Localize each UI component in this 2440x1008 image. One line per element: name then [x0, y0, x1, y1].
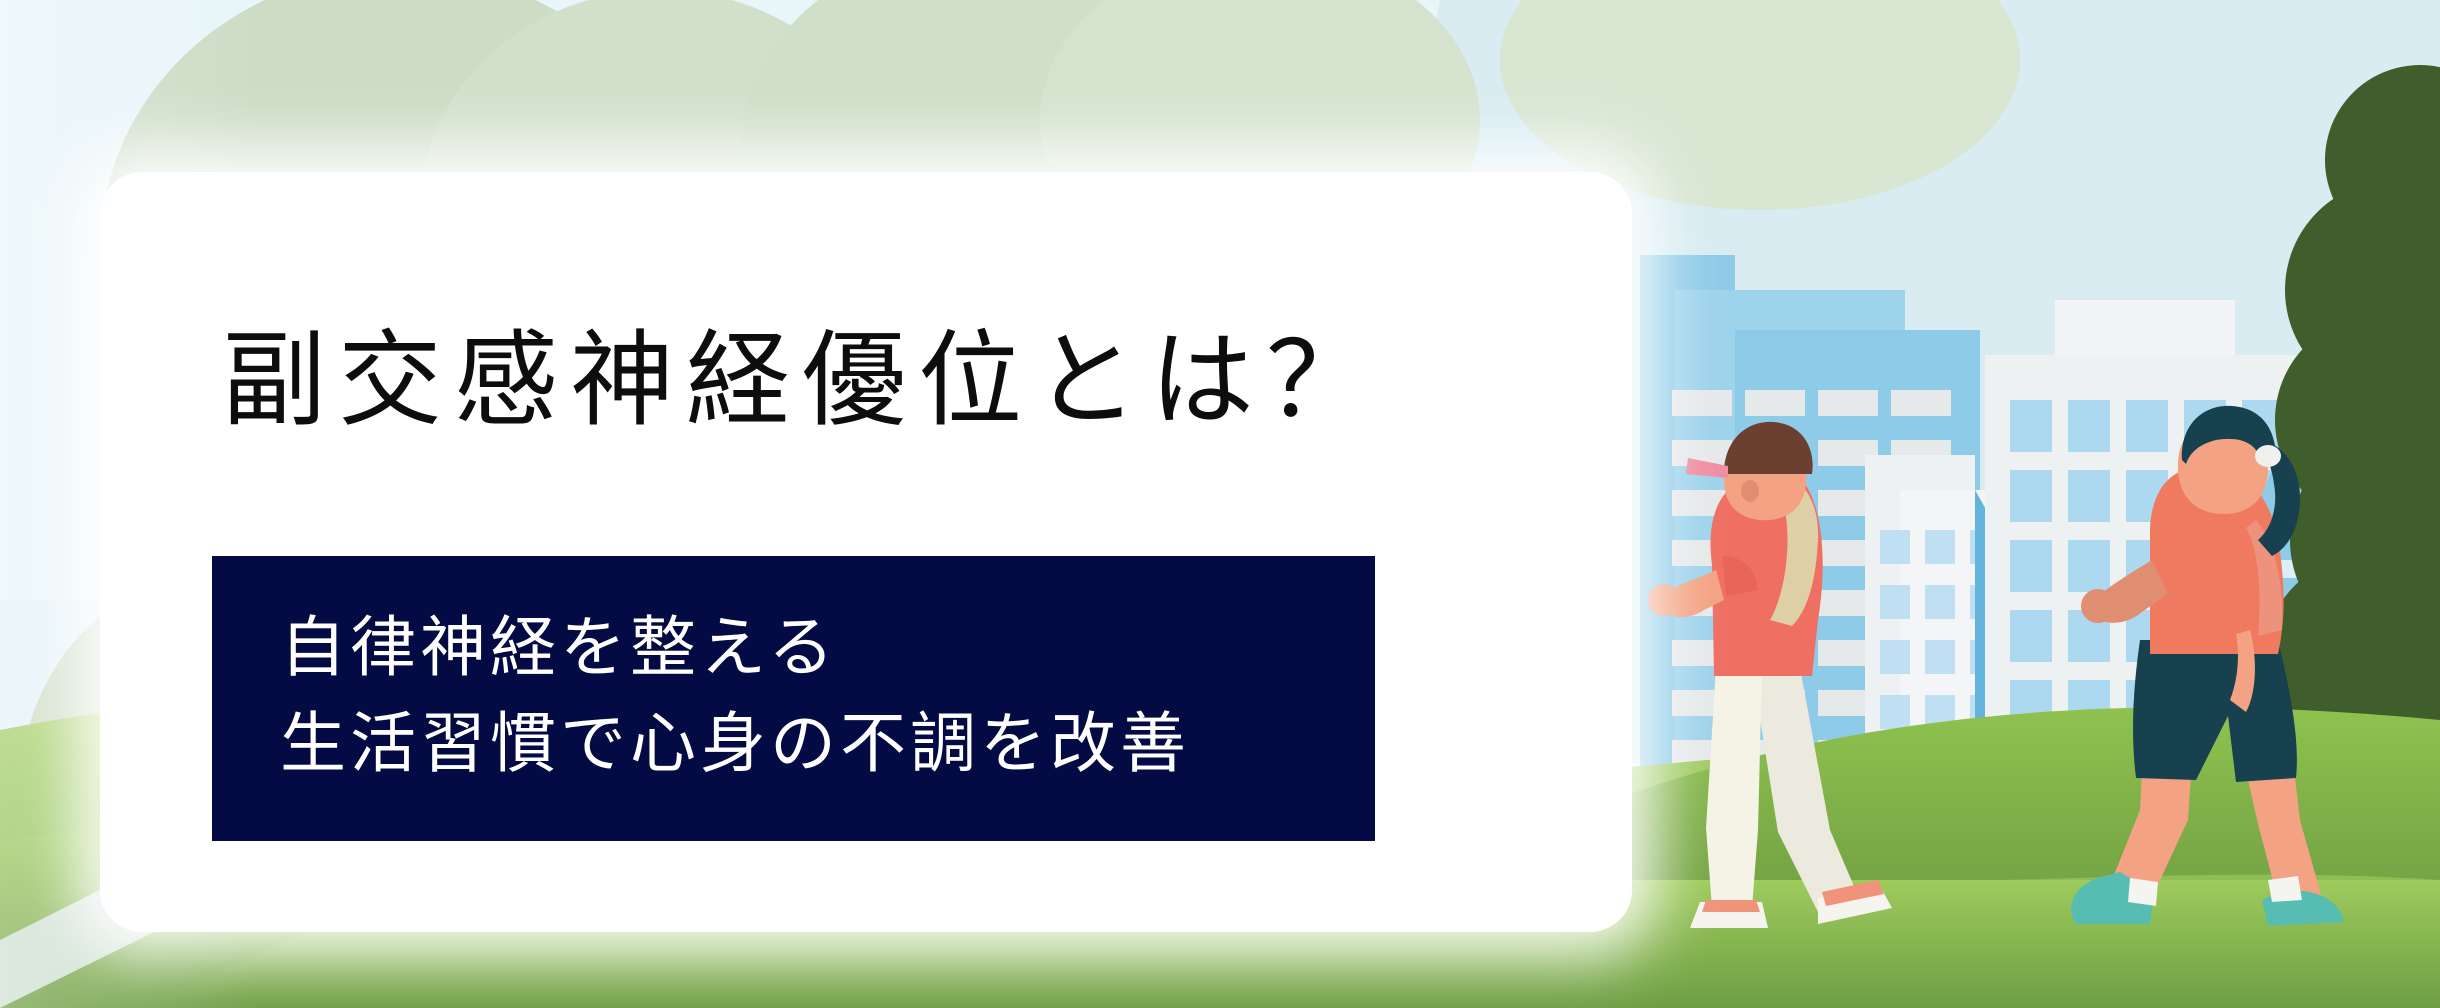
sock-back: [2128, 878, 2158, 906]
tagline-line-1: 自律神経を整える: [280, 600, 1190, 696]
tree-leaf-speck: [2292, 606, 2320, 634]
page-title: 副交感神経優位とは？: [222, 322, 1382, 438]
shoe-front-strap: [1702, 900, 1760, 912]
trouser-front: [1706, 668, 1762, 908]
sock-front: [2268, 876, 2302, 902]
tagline-text: 自律神経を整える 生活習慣で心身の不調を改善: [280, 600, 1190, 793]
tagline-box: 自律神経を整える 生活習慣で心身の不調を改善: [212, 556, 1375, 841]
hero-card: 副交感神経優位とは？ 自律神経を整える 生活習慣で心身の不調を改善: [100, 172, 1632, 932]
hand: [1648, 584, 1680, 616]
hand-back: [2081, 589, 2115, 623]
hero-banner: 副交感神経優位とは？ 自律神経を整える 生活習慣で心身の不調を改善: [0, 0, 2440, 1008]
hair-tie: [2255, 445, 2281, 467]
tagline-line-2: 生活習慣で心身の不調を改善: [280, 696, 1190, 792]
ear: [1741, 480, 1759, 502]
